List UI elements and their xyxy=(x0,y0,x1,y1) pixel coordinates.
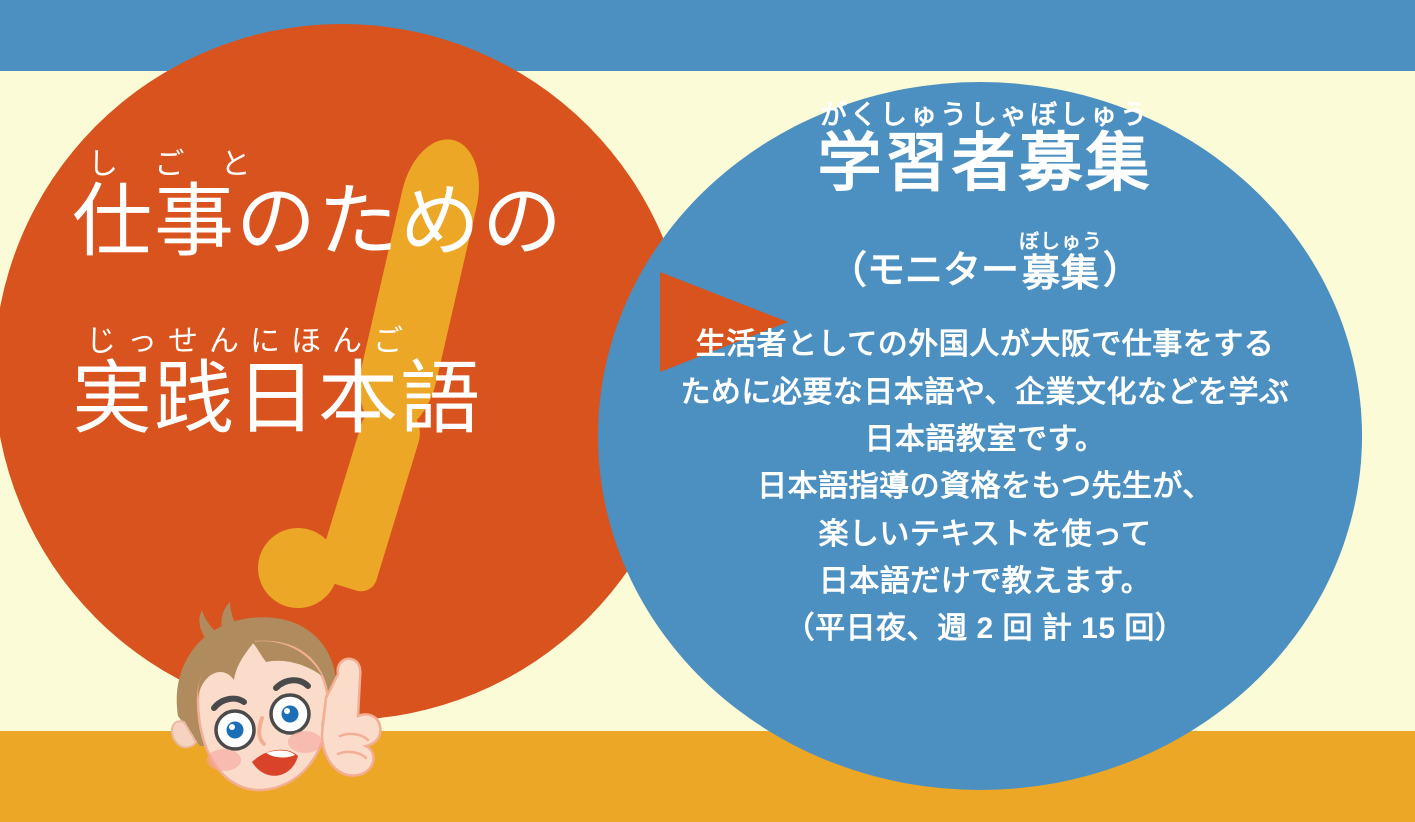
subheadline-kanji: 募集 xyxy=(1022,255,1100,293)
title-line2: 実践日本語 xyxy=(72,357,632,440)
body-line-7: （平日夜、週 2 回 計 15 回） xyxy=(630,605,1340,652)
left-title-block: し ご と 仕事のための じっせんにほんご 実践日本語 xyxy=(72,150,632,440)
title-spacer xyxy=(72,263,632,327)
subheadline-ruby: ぼしゅう xyxy=(1019,232,1103,252)
title-line1-ruby: し ご と xyxy=(72,150,632,180)
subheadline-ruby-group: ぼしゅう 募集 xyxy=(1019,232,1103,293)
subheadline-close: ） xyxy=(1103,251,1141,293)
right-info-block: がくしゅうしゃぼしゅう 学習者募集 （モニター ぼしゅう 募集 ） 生活者として… xyxy=(630,102,1340,653)
headline-ruby: がくしゅうしゃぼしゅう xyxy=(630,102,1340,129)
body-text: 生活者としての外国人が大阪で仕事をする ために必要な日本語や、企業文化などを学ぶ… xyxy=(630,321,1340,653)
pointing-boy-icon xyxy=(140,596,440,822)
body-line-2: ために必要な日本語や、企業文化などを学ぶ xyxy=(630,369,1340,416)
title-line2-ruby: じっせんにほんご xyxy=(72,327,632,357)
headline: 学習者募集 xyxy=(630,129,1340,198)
subheadline: （モニター ぼしゅう 募集 ） xyxy=(630,232,1340,293)
title-line1: 仕事のための xyxy=(72,180,632,263)
body-line-6: 日本語だけで教えます。 xyxy=(630,558,1340,605)
body-line-4: 日本語指導の資格をもつ先生が、 xyxy=(630,463,1340,510)
body-line-3: 日本語教室です。 xyxy=(630,416,1340,463)
body-line-1: 生活者としての外国人が大阪で仕事をする xyxy=(630,321,1340,368)
body-line-5: 楽しいテキストを使って xyxy=(630,511,1340,558)
poster-canvas: し ご と 仕事のための じっせんにほんご 実践日本語 がくしゅうしゃぼしゅう … xyxy=(0,0,1415,822)
subheadline-open: （モニター xyxy=(829,251,1019,293)
